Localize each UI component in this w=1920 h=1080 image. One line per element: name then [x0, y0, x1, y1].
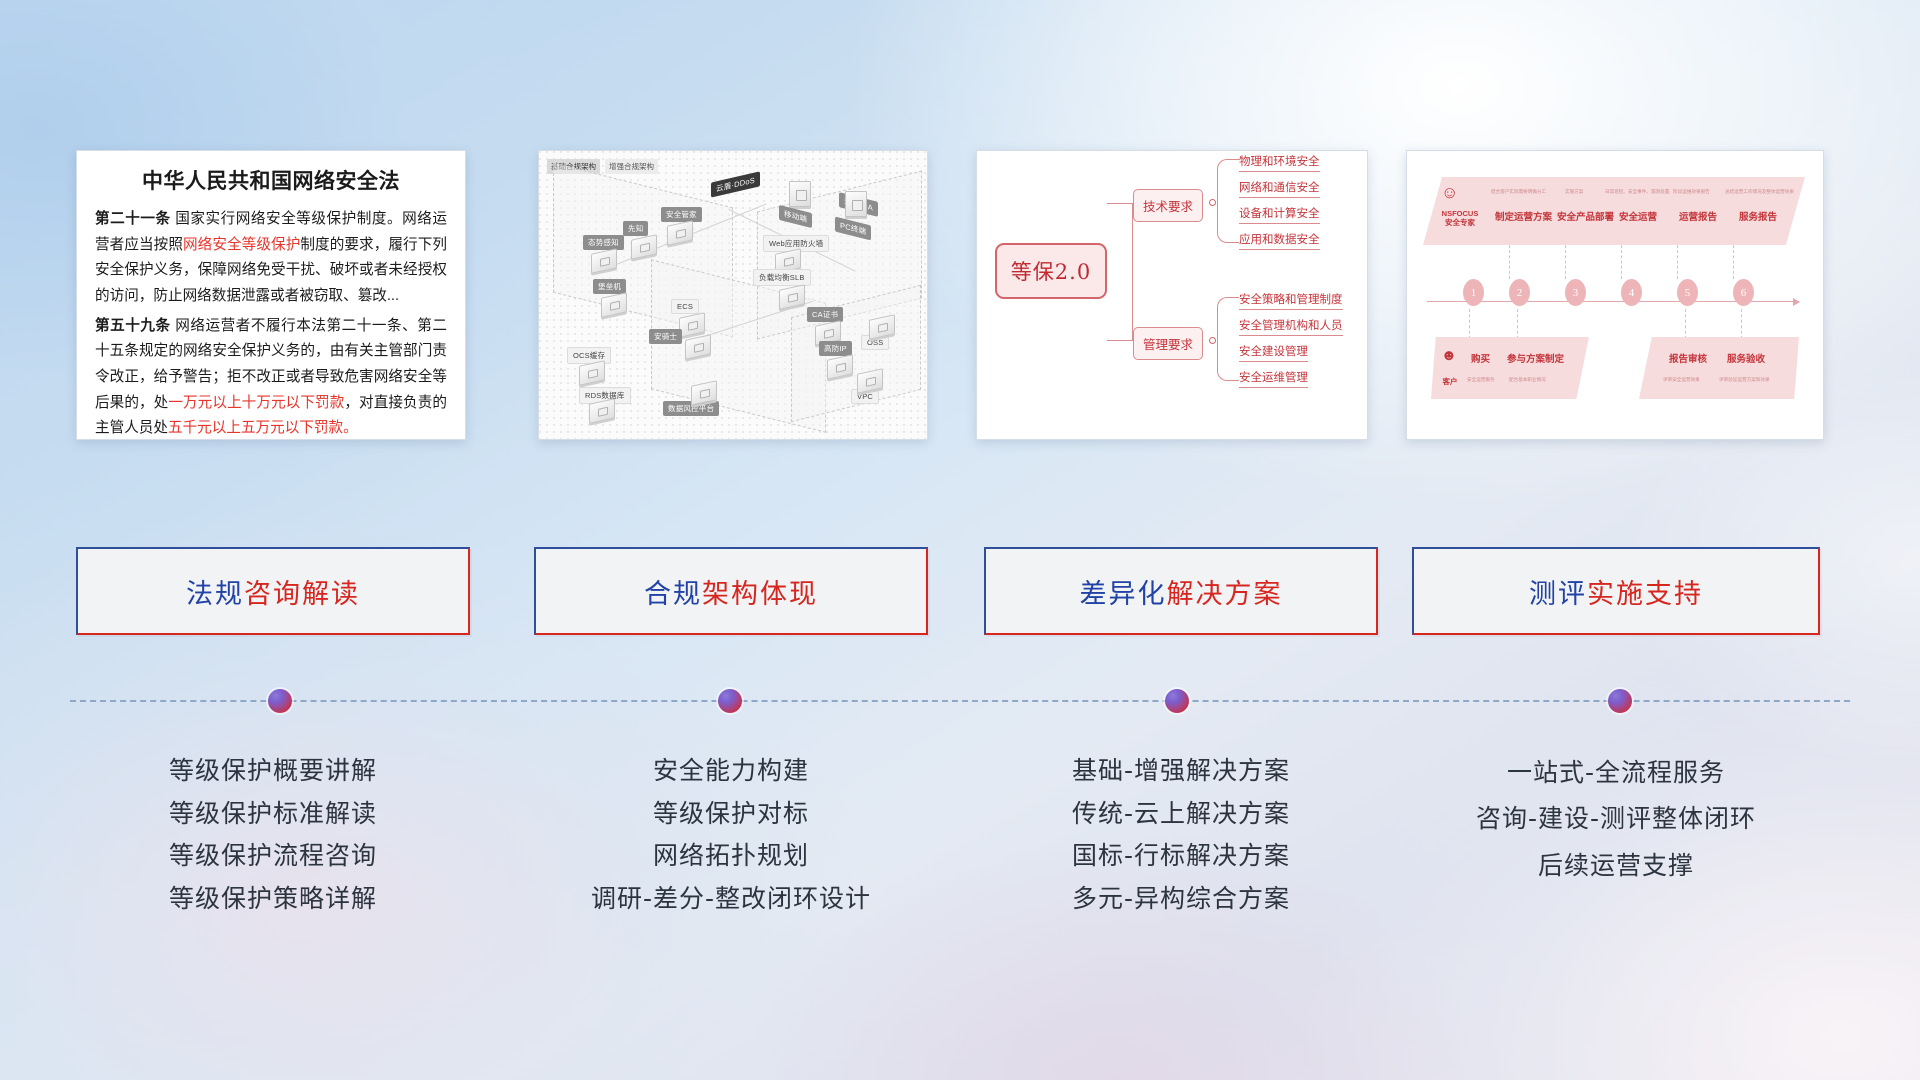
step-number-5: 5 — [1677, 279, 1698, 306]
arch-chip-slb: 负载均衡SLB — [753, 269, 811, 286]
heading-button-evaluation-support[interactable]: 测评实施支持 — [1412, 547, 1820, 635]
architecture-diagram: 基础合规架构 增强合规架构 云盾·DDoS 安全管家 先知 态势感知 堡垒机 — [539, 151, 927, 439]
article-21-highlight: 网络安全等级保护 — [183, 237, 300, 253]
dash-6 — [1469, 309, 1470, 339]
heading-2-blue: 合规 — [644, 579, 702, 610]
mindmap-fan-management — [1217, 297, 1239, 381]
heading-2-red: 架构体现 — [702, 579, 818, 610]
dash-9 — [1741, 309, 1742, 339]
nsfocus-brand: NSFOCUS 安全专家 — [1433, 209, 1487, 228]
heading-3-red: 解决方案 — [1167, 579, 1283, 610]
dash-5 — [1733, 245, 1734, 279]
timeline-dot-1[interactable] — [268, 689, 292, 713]
law-title: 中华人民共和国网络安全法 — [95, 165, 447, 195]
mindmap-root-connector — [1107, 203, 1133, 341]
step-number-1: 1 — [1463, 279, 1484, 306]
detail-list-4: 一站式-全流程服务 咨询-建设-测评整体闭环 后续运营支撑 — [1412, 750, 1820, 889]
law-article-21: 第二十一条 国家实行网络安全等级保护制度。网络运营者应当按照网络安全等级保护制度… — [95, 207, 447, 310]
arch-chip-taishiganzhi: 态势感知 — [583, 235, 624, 250]
dash-3 — [1621, 245, 1622, 279]
list-item: 网络拓扑规划 — [534, 835, 928, 878]
top-step-2-sub: 日常巡检、安全事件、漏洞处置 — [1605, 189, 1669, 195]
bottom-step-2-title: 报告审核 — [1669, 351, 1707, 365]
step-number-3: 3 — [1565, 279, 1586, 306]
dash-2 — [1565, 245, 1566, 279]
mindmap-fan-technical — [1217, 159, 1239, 243]
detail-list-1: 等级保护概要讲解 等级保护标准解读 等级保护流程咨询 等级保护策略详解 — [76, 750, 470, 920]
heading-button-compliance-architecture[interactable]: 合规架构体现 — [534, 547, 928, 635]
list-item: 等级保护概要讲解 — [76, 750, 470, 793]
mindmap-leaf-mgmt-2: 安全建设管理 — [1239, 343, 1308, 362]
mindmap-dot-management — [1209, 337, 1216, 344]
headings-row: 法规咨询解读 合规架构体现 差异化解决方案 测评实施支持 — [0, 547, 1920, 635]
card-cybersecurity-law[interactable]: 中华人民共和国网络安全法 第二十一条 国家实行网络安全等级保护制度。网络运营者应… — [76, 150, 466, 440]
card-compliance-architecture[interactable]: 基础合规架构 增强合规架构 云盾·DDoS 安全管家 先知 态势感知 堡垒机 — [538, 150, 928, 440]
list-item: 多元-异构综合方案 — [984, 878, 1378, 921]
mindmap: 等保2.0 技术要求 物理和环境安全 网络和通信安全 设备和计算安全 应用和数据… — [977, 151, 1367, 439]
dash-4 — [1677, 245, 1678, 279]
top-step-3-title: 运营报告 — [1679, 209, 1717, 223]
bottom-step-0-sub: 安全运营服务 — [1467, 377, 1495, 383]
heading-1-blue: 法规 — [186, 579, 244, 610]
detail-list-3: 基础-增强解决方案 传统-云上解决方案 国标-行标解决方案 多元-异构综合方案 — [984, 750, 1378, 920]
mindmap-leaf-mgmt-3: 安全运维管理 — [1239, 369, 1308, 388]
card-row: 中华人民共和国网络安全法 第二十一条 国家实行网络安全等级保护制度。网络运营者应… — [0, 150, 1920, 440]
arch-chip-anqishi: 安骑士 — [649, 329, 682, 344]
article-21-label: 第二十一条 — [95, 211, 171, 227]
bottom-step-0-title: 购买 — [1471, 351, 1490, 365]
nsfocus-brand-sub: 安全专家 — [1445, 218, 1475, 227]
detail-list-2: 安全能力构建 等级保护对标 网络拓扑规划 调研-差分-整改闭环设计 — [534, 750, 928, 920]
mindmap-leaf-tech-2: 设备和计算安全 — [1239, 205, 1320, 224]
mindmap-leaf-tech-1: 网络和通信安全 — [1239, 179, 1320, 198]
arch-node-rds — [589, 398, 615, 424]
mindmap-leaf-tech-3: 应用和数据安全 — [1239, 231, 1320, 250]
mindmap-dot-technical — [1209, 199, 1216, 206]
nsfocus-brand-name: NSFOCUS — [1442, 209, 1479, 218]
heading-text-3: 差异化解决方案 — [1080, 572, 1283, 611]
list-item: 一站式-全流程服务 — [1412, 750, 1820, 796]
mindmap-root: 等保2.0 — [995, 243, 1107, 299]
arch-chip-anquanguanjia: 安全管家 — [661, 207, 702, 222]
dash-1 — [1509, 245, 1510, 279]
list-item: 基础-增强解决方案 — [984, 750, 1378, 793]
top-step-1-sub: 实施方案 — [1565, 189, 1583, 195]
list-item: 咨询-建设-测评整体闭环 — [1412, 796, 1820, 842]
customer-icon: ☻ — [1441, 347, 1457, 364]
timeline-dot-4[interactable] — [1608, 689, 1632, 713]
dash-8 — [1685, 309, 1686, 339]
heading-text-2: 合规架构体现 — [644, 572, 818, 611]
card-nsfocus-timeline[interactable]: ☺ NSFOCUS 安全专家 结合客户实际需要明确分工 制定运营方案 实施方案 … — [1406, 150, 1824, 440]
top-step-2-title: 安全运营 — [1619, 209, 1657, 223]
timeline-dot-3[interactable] — [1165, 689, 1189, 713]
heading-4-blue: 测评 — [1529, 579, 1587, 610]
arch-chip-gaofangip: 高防IP — [819, 341, 852, 356]
top-step-1-title: 安全产品部署 — [1557, 209, 1614, 223]
top-step-4-sub: 总结运营工作情况及整体运营效果 — [1725, 189, 1794, 195]
heading-3-blue: 差异化 — [1080, 579, 1167, 610]
law-article-59: 第五十九条 网络运营者不履行本法第二十一条、第二十五条规定的网络安全保护义务的，… — [95, 314, 447, 440]
heading-button-differentiated-solution[interactable]: 差异化解决方案 — [984, 547, 1378, 635]
timeline — [70, 700, 1850, 702]
list-item: 等级保护对标 — [534, 793, 928, 836]
top-step-3-sub: 阶段运维效果报告 — [1673, 189, 1710, 195]
list-item: 国标-行标解决方案 — [984, 835, 1378, 878]
mindmap-branch-technical: 技术要求 — [1133, 189, 1203, 222]
detail-lists: 等级保护概要讲解 等级保护标准解读 等级保护流程咨询 等级保护策略详解 安全能力… — [0, 750, 1920, 990]
bottom-step-2-sub: 评审安全运营效果 — [1663, 377, 1700, 383]
list-item: 安全能力构建 — [534, 750, 928, 793]
nsfocus-diagram: ☺ NSFOCUS 安全专家 结合客户实际需要明确分工 制定运营方案 实施方案 … — [1407, 151, 1823, 439]
list-item: 等级保护标准解读 — [76, 793, 470, 836]
arch-tab-enhanced[interactable]: 增强合规架构 — [605, 159, 658, 174]
bottom-step-1-title: 参与方案制定 — [1507, 351, 1564, 365]
article-59-highlight-b: 五千元以上五万元以下罚款。 — [168, 420, 358, 436]
bottom-step-3-sub: 评审验证运营方案和效果 — [1719, 377, 1770, 383]
heading-1-red: 咨询解读 — [244, 579, 360, 610]
list-item: 等级保护流程咨询 — [76, 835, 470, 878]
heading-text-4: 测评实施支持 — [1529, 572, 1703, 611]
mindmap-branch-management: 管理要求 — [1133, 327, 1203, 360]
law-document: 中华人民共和国网络安全法 第二十一条 国家实行网络安全等级保护制度。网络运营者应… — [77, 151, 465, 440]
arch-chip-ddos: 云盾·DDoS — [711, 171, 760, 197]
step-number-4: 4 — [1621, 279, 1642, 306]
nsfocus-band-right — [1639, 337, 1799, 399]
top-step-0-sub: 结合客户实际需要明确分工 — [1491, 189, 1546, 195]
heading-text-1: 法规咨询解读 — [186, 572, 360, 611]
arch-node-baoleiji — [601, 292, 627, 318]
arch-node-ocs — [579, 360, 605, 386]
customer-label: 客户 — [1435, 377, 1465, 386]
mindmap-leaf-tech-0: 物理和环境安全 — [1239, 153, 1320, 172]
list-item: 调研-差分-整改闭环设计 — [534, 878, 928, 921]
arch-chip-xianzhi: 先知 — [623, 221, 648, 236]
mindmap-leaf-mgmt-0: 安全策略和管理制度 — [1239, 291, 1343, 310]
list-item: 传统-云上解决方案 — [984, 793, 1378, 836]
top-step-0-title: 制定运营方案 — [1495, 209, 1552, 223]
step-number-2: 2 — [1509, 279, 1530, 306]
top-step-4-title: 服务报告 — [1739, 209, 1777, 223]
arch-node-pc — [845, 191, 867, 217]
list-item: 后续运营支撑 — [1412, 843, 1820, 889]
timeline-dashed-line — [70, 700, 1850, 702]
bottom-step-3-title: 服务验收 — [1727, 351, 1765, 365]
timeline-dot-2[interactable] — [718, 689, 742, 713]
step-number-6: 6 — [1733, 279, 1754, 306]
heading-button-regulation-consulting[interactable]: 法规咨询解读 — [76, 547, 470, 635]
bottom-step-1-sub: 配合基本职业情况 — [1509, 377, 1546, 383]
card-mindmap-dengbao[interactable]: 等保2.0 技术要求 物理和环境安全 网络和通信安全 设备和计算安全 应用和数据… — [976, 150, 1368, 440]
article-59-label: 第五十九条 — [95, 318, 171, 334]
arch-node-mobile — [789, 181, 811, 207]
article-59-highlight-a: 一万元以上十万元以下罚款 — [168, 395, 344, 411]
arch-chip-baoleiji: 堡垒机 — [593, 279, 626, 294]
arch-chip-ecs: ECS — [671, 299, 699, 314]
mindmap-leaf-mgmt-1: 安全管理机构和人员 — [1239, 317, 1343, 336]
dash-7 — [1517, 309, 1518, 339]
expert-icon: ☺ — [1441, 183, 1458, 203]
heading-4-red: 实施支持 — [1587, 579, 1703, 610]
page-root: 中华人民共和国网络安全法 第二十一条 国家实行网络安全等级保护制度。网络运营者应… — [0, 0, 1920, 1080]
list-item: 等级保护策略详解 — [76, 878, 470, 921]
